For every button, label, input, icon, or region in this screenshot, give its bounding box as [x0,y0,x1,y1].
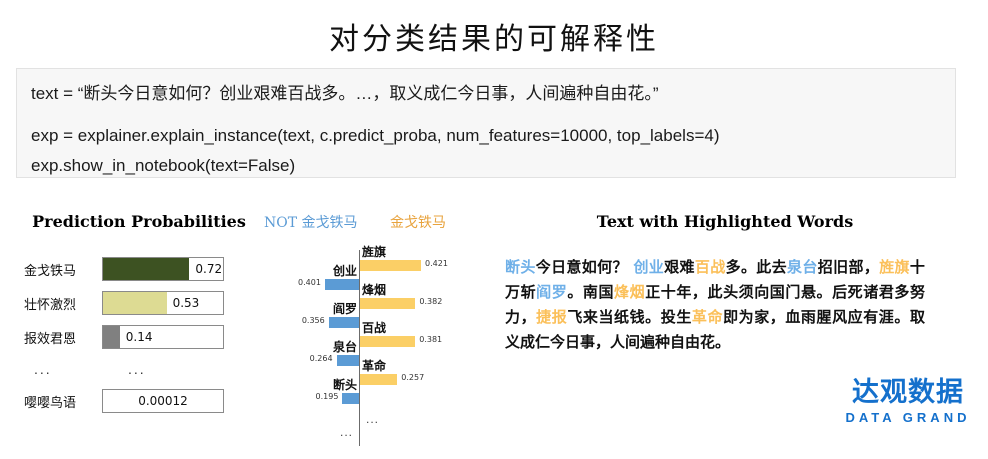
highlight-text-plain: 招旧部， [818,258,879,276]
prediction-row: 金戈铁马0.72 [24,257,254,281]
highlight-word-negative: 阎罗 [536,283,567,301]
prediction-row-bar-track: 0.53 [102,291,224,315]
code-line-explain-instance: exp = explainer.explain_instance(text, c… [31,121,941,151]
brand-logo-cn: 达观数据 [838,378,978,408]
prediction-row-label: 壮怀激烈 [24,294,102,313]
prediction-probabilities-heading: Prediction Probabilities [24,212,254,231]
diverging-value-negative: 0.356 [302,316,325,325]
highlight-text-plain: 今日意如何？ [536,258,634,276]
diverging-bar-negative [329,317,359,328]
diverging-item-positive: 革命0.257 [360,374,397,385]
diverging-word-positive: 烽烟 [362,281,386,298]
prediction-row-bar-track: 0.14 [102,325,224,349]
diverging-heading-negative: NOT 金戈铁马 [264,212,358,232]
prediction-ellipsis-value: ... [102,361,224,377]
diverging-word-positive: 革命 [362,357,386,374]
prediction-row-label: 嘤嘤鸟语 [24,392,102,411]
highlight-text-plain: 飞来当纸钱。投生 [567,308,692,326]
diverging-value-negative: 0.401 [298,278,321,287]
diverging-word-positive: 百战 [362,319,386,336]
brand-logo: 达观数据 DATA GRAND [838,378,978,425]
prediction-row-value: 0.53 [173,292,200,314]
diverging-item-positive: 百战0.381 [360,336,415,347]
diverging-word-negative: 阎罗 [333,300,357,317]
prediction-row-bar-track: 0.72 [102,257,224,281]
brand-logo-en: DATA GRAND [838,410,978,425]
prediction-row-ellipsis: ...... [24,359,254,379]
highlight-text-plain: 。南国 [567,283,614,301]
diverging-bar-positive [360,374,397,385]
highlight-word-positive: 捷报 [536,308,567,326]
page-title: 对分类结果的可解释性 [0,14,988,58]
highlight-word-positive: 旌旗 [879,258,910,276]
diverging-word-negative: 创业 [333,262,357,279]
prediction-row-bar-fill [103,292,167,314]
prediction-row-bar-fill [103,258,189,280]
diverging-bar-negative [325,279,359,290]
highlight-word-positive: 烽烟 [614,283,645,301]
prediction-row-label: 报效君恩 [24,328,102,347]
diverging-ellipsis-positive: ... [366,412,379,426]
prediction-ellipsis-label: ... [24,361,102,377]
diverging-value-positive: 0.421 [425,259,448,268]
diverging-word-negative: 断头 [333,376,357,393]
diverging-item-positive: 旌旗0.421 [360,260,421,271]
prediction-row-bar-fill [103,326,120,348]
prediction-row: 报效君恩0.14 [24,325,254,349]
diverging-bar-chart: NOT 金戈铁马 金戈铁马 旌旗0.421烽烟0.382百战0.381革命0.2… [262,212,498,452]
highlight-word-negative: 创业 [633,258,664,276]
highlight-text-plain: 艰难 [664,258,695,276]
highlighted-text-panel: Text with Highlighted Words 断头今日意如何？ 创业艰… [505,212,945,355]
prediction-row-value: 0.14 [126,326,153,348]
prediction-probabilities-panel: Prediction Probabilities 金戈铁马0.72壮怀激烈0.5… [24,212,254,423]
prediction-row-value: 0.72 [195,258,222,280]
highlight-text-plain: 多。此去 [726,258,787,276]
prediction-probabilities-rows: 金戈铁马0.72壮怀激烈0.53报效君恩0.14......嘤嘤鸟语0.0001… [24,257,254,413]
diverging-item-negative: 阎罗0.356 [329,317,359,328]
highlight-word-negative: 断头 [505,258,536,276]
diverging-value-positive: 0.381 [419,335,442,344]
highlight-word-positive: 革命 [692,308,723,326]
diverging-item-negative: 泉台0.264 [337,355,359,366]
prediction-row: 嘤嘤鸟语0.00012 [24,389,254,413]
diverging-value-negative: 0.195 [316,392,339,401]
diverging-value-positive: 0.257 [401,373,424,382]
diverging-item-negative: 断头0.195 [342,393,359,404]
code-line-text-assignment: text = “断头今日意如何？创业艰难百战多。…，取义成仁今日事，人间遍种自由… [31,79,941,109]
diverging-item-negative: 创业0.401 [325,279,359,290]
diverging-value-positive: 0.382 [419,297,442,306]
diverging-word-negative: 泉台 [333,338,357,355]
diverging-axis-line [359,250,360,446]
diverging-item-positive: 烽烟0.382 [360,298,415,309]
prediction-row-bar-track: 0.00012 [102,389,224,413]
code-line-show-in-notebook: exp.show_in_notebook(text=False) [31,151,941,181]
slide-root: 对分类结果的可解释性 text = “断头今日意如何？创业艰难百战多。…，取义成… [0,0,988,459]
diverging-plot-area: 旌旗0.421烽烟0.382百战0.381革命0.257创业0.401阎罗0.3… [262,250,498,446]
prediction-row: 壮怀激烈0.53 [24,291,254,315]
diverging-ellipsis-negative: ... [340,425,353,439]
highlighted-text-body: 断头今日意如何？ 创业艰难百战多。此去泉台招旧部，旌旗十万斩阎罗。南国烽烟正十年… [505,255,925,355]
diverging-value-negative: 0.264 [310,354,333,363]
diverging-word-positive: 旌旗 [362,243,386,260]
code-block: text = “断头今日意如何？创业艰难百战多。…，取义成仁今日事，人间遍种自由… [16,68,956,178]
diverging-bar-negative [337,355,359,366]
diverging-bar-positive [360,260,421,271]
diverging-bar-negative [342,393,359,404]
highlighted-text-heading: Text with Highlighted Words [505,212,945,231]
highlight-word-negative: 泉台 [787,258,818,276]
highlight-word-positive: 百战 [695,258,726,276]
prediction-row-label: 金戈铁马 [24,260,102,279]
diverging-bar-positive [360,298,415,309]
diverging-heading-positive: 金戈铁马 [390,212,446,232]
diverging-bar-positive [360,336,415,347]
prediction-row-value: 0.00012 [103,390,223,412]
diverging-headings: NOT 金戈铁马 金戈铁马 [262,212,498,234]
